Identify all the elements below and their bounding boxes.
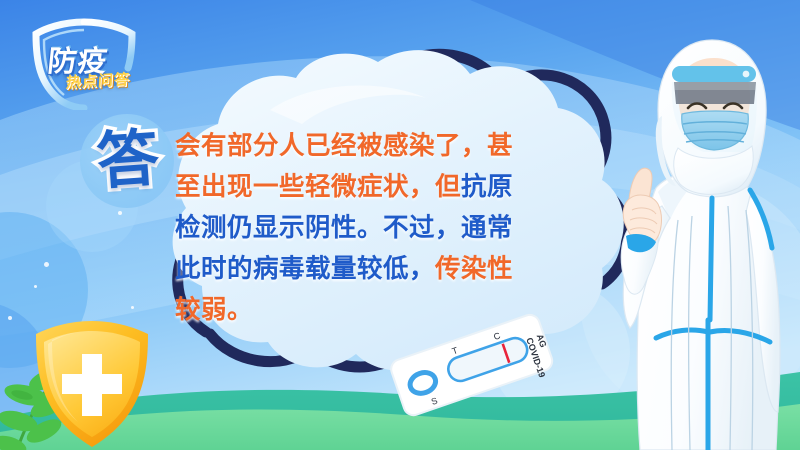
antigen-test-kit: S T C COVID-19 AG — [382, 306, 562, 426]
answer-segment: 检测仍显示阴性。不过，通常 — [175, 214, 513, 242]
logo-sub-text: 热点问答 — [65, 68, 130, 92]
medical-worker-illustration — [600, 20, 800, 450]
sparkle-dot — [44, 262, 49, 267]
answer-segment: 此时的病毒载量较低， — [175, 255, 435, 283]
answer-segment: 抗原 — [461, 173, 513, 201]
medical-shield-cross-icon — [28, 318, 156, 450]
sparkle-dot — [131, 306, 134, 309]
answer-line: 至出现一些轻微症状，但抗原 — [175, 167, 545, 208]
poster-canvas: 防疫 热点问答 答 — [0, 0, 800, 450]
answer-segment: 传染性 — [435, 255, 513, 283]
brand-logo: 防疫 热点问答 — [14, 18, 154, 110]
medical-worker-ppe-icon — [600, 20, 800, 450]
sparkle-dot — [8, 316, 12, 320]
answer-line: 检测仍显示阴性。不过，通常 — [175, 208, 545, 249]
answer-line: 此时的病毒载量较低，传染性 — [175, 249, 545, 290]
sparkle-dot — [34, 285, 37, 288]
medical-shield-emblem — [28, 318, 156, 450]
answer-segment: 至出现一些轻微症状，但 — [175, 173, 461, 201]
answer-segment: 较弱。 — [175, 296, 253, 324]
answer-line: 会有部分人已经被感染了，甚 — [175, 126, 545, 167]
answer-segment: 会有部分人已经被感染了，甚 — [175, 132, 513, 160]
answer-text: 会有部分人已经被感染了，甚 至出现一些轻微症状，但抗原 检测仍显示阴性。不过，通… — [175, 126, 545, 331]
covid-antigen-test-icon: S T C COVID-19 AG — [382, 306, 562, 426]
